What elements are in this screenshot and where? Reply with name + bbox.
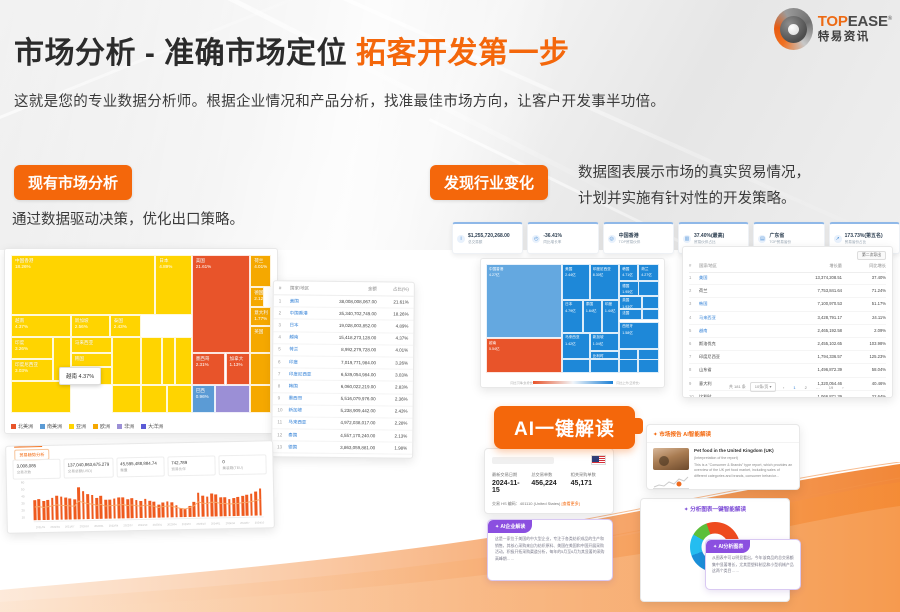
treemap-cell[interactable]: 中国香港18.26%: [11, 255, 155, 315]
treemap-legend-item[interactable]: 亚洲: [69, 423, 86, 430]
row-country[interactable]: 中国香港: [290, 310, 330, 316]
export-button[interactable]: 第二次导出: [857, 251, 886, 260]
row-pct: 2.13%: [381, 433, 407, 439]
growth-treemap-cell[interactable]: 泰国1.64亿: [583, 300, 602, 333]
page-title: 市场分析 - 准确市场定位 拓客开发第一步: [14, 28, 570, 72]
page-size-select[interactable]: 10条/页 ▾: [750, 382, 777, 392]
kpi-text: 173.73%(第五名)贸易省份占比: [845, 232, 883, 245]
market-report-text: Pet food in the United Kingdom (UK) (Int…: [694, 448, 793, 489]
scale-label-right: 同比上升(正增长): [617, 381, 640, 385]
kpi-value: 中国香港: [619, 232, 641, 239]
treemap-cell-label: 印度: [12, 338, 52, 346]
row-pct: 1.98%: [381, 445, 407, 451]
treemap-cell[interactable]: 泰国2.43%: [110, 315, 141, 337]
growth-cell-value: 4.71亿: [620, 272, 637, 279]
kpi-text: 37.40%(最高)贸易伙伴占比: [694, 232, 724, 245]
table-row[interactable]: 6斯洛伐克2,455,102.65103.98%: [689, 338, 886, 351]
row-amount: 5,238,909,442.00: [329, 408, 382, 415]
tab-underline: [14, 446, 42, 448]
treemap-cell-label: 印度尼西亚: [12, 360, 52, 368]
treemap-cell[interactable]: [141, 385, 167, 413]
market-report-paragraph: This is a "Consumer & Brands" type repor…: [694, 463, 793, 479]
row-country[interactable]: 泰国: [288, 432, 328, 438]
stat-value: 45,171: [571, 480, 606, 487]
row-pct: 21.61%: [383, 299, 409, 305]
treemap-cell-label: 巴西: [193, 386, 214, 394]
growth-table-panel[interactable]: 第二次导出 # 国家/地区 增长量 同比增长 1美国13,374,208.513…: [682, 246, 893, 398]
y-tick-label: 50: [21, 487, 24, 491]
row-amount: 4,557,170,240.00: [328, 433, 381, 440]
treemap-cell[interactable]: [112, 337, 141, 384]
treemap-cell-label: 韩国: [72, 354, 112, 362]
treemap-cell-value: 3.03%: [12, 368, 52, 374]
company-stats-card[interactable]: 最新交易日期2024-11-15总交易单数456,224相关采购单数45,171…: [484, 448, 614, 514]
country-amount-table-panel[interactable]: # 国家/地区 金额 占比(%) 1美国38,008,008,067.0021.…: [271, 280, 415, 458]
growth-cell-value: 1.58亿: [620, 329, 658, 336]
trend-kpi-label: 贸易伙伴: [171, 466, 211, 472]
stat-label: 最新交易日期: [492, 472, 527, 478]
y-tick-label: 60: [21, 480, 24, 484]
brand-logo: TOPEASE® 特易资讯: [774, 6, 892, 52]
growth-treemap-cell[interactable]: [590, 359, 619, 373]
clock-icon: ◴: [532, 235, 540, 243]
treemap-legend-item[interactable]: 欧洲: [93, 423, 110, 430]
treemap-cell[interactable]: 日本4.89%: [155, 255, 191, 315]
growth-cell-value: 4.27亿: [639, 272, 658, 279]
row-growth-amount: 3,428,791.17: [753, 315, 856, 321]
page-button[interactable]: 1: [791, 385, 798, 390]
row-growth-pct: 22.64%: [856, 394, 886, 398]
row-pct: 2.36%: [382, 397, 408, 403]
growth-treemap-cell[interactable]: [638, 359, 659, 373]
treemap-cell-value: 4.89%: [156, 264, 190, 270]
stat-label: 总交易单数: [531, 472, 566, 478]
row-country[interactable]: 墨西哥: [289, 396, 329, 402]
growth-cell-value: 1.64亿: [584, 307, 601, 314]
growth-treemap-panel[interactable]: 中国香港4.27亿越南5.54亿美国2.44亿印度尼西亚8.30亿日本4.79亿…: [480, 258, 665, 388]
kpi-label: 同比增长率: [543, 240, 562, 245]
section-desc-left: 通过数据驱动决策，优化出口策略。: [12, 208, 244, 229]
row-pct: 3.03%: [382, 372, 408, 378]
growth-cell-label: 比利时: [591, 352, 618, 359]
table-row[interactable]: 5越南2,465,192.582.09%: [689, 325, 886, 338]
row-index: 3: [278, 322, 289, 328]
ai-chart-note-tag: ✦ AI分析图表: [706, 540, 750, 553]
pet-photo-image: [653, 448, 689, 470]
row-country[interactable]: 马来西亚: [699, 315, 753, 321]
row-growth-amount: 13,374,208.51: [753, 275, 856, 281]
market-report-card[interactable]: ✦ 市场报告 AI智能解读 Pet food in the United Kin…: [646, 424, 800, 490]
growth-table-body[interactable]: 1美国13,374,208.5137.40%2荷兰7,753,841.6471.…: [689, 272, 886, 398]
legend-swatch: [117, 424, 122, 429]
row-amount: 35,340,702,749.00: [330, 311, 383, 318]
growth-treemap-chart[interactable]: 中国香港4.27亿越南5.54亿美国2.44亿印度尼西亚8.30亿日本4.79亿…: [486, 264, 659, 373]
growth-treemap-cell[interactable]: 韩国4.71亿: [619, 264, 638, 281]
legend-swatch: [40, 424, 45, 429]
row-amount: 7,019,771,984.00: [329, 359, 382, 366]
row-index: 11: [277, 420, 288, 426]
row-growth-amount: 2,465,192.58: [753, 328, 856, 334]
treemap-cell-value: 1.77%: [251, 316, 270, 322]
row-country[interactable]: 比利时: [699, 394, 753, 398]
growth-cell-value: 5.54亿: [487, 346, 561, 353]
row-growth-pct: 2.09%: [856, 328, 886, 334]
ai-chart-note-tag-text: AI分析图表: [718, 544, 743, 550]
table-row[interactable]: 1美国13,374,208.5137.40%: [689, 272, 886, 285]
stat-item: 总交易单数456,224: [531, 472, 566, 494]
col-country: 国家/地区: [290, 285, 330, 291]
color-scale-bar: [533, 381, 613, 384]
section-tag-right: 发现行业变化: [430, 165, 548, 200]
row-country[interactable]: 越南: [699, 328, 753, 334]
col-amount: 金额: [330, 286, 383, 293]
treemap-legend[interactable]: 北美洲南美洲亚洲欧洲非洲大洋洲: [11, 423, 163, 430]
chart-icon: ▥: [683, 235, 691, 243]
mini-chart: [653, 473, 689, 489]
hs-code-value: 401110 (United States): [520, 501, 561, 506]
trend-kpi-value: 45,595,488,884.74: [120, 461, 160, 467]
trend-bar-chart[interactable]: [33, 475, 264, 520]
treemap-cell-value: 18.26%: [12, 264, 154, 270]
growth-treemap-cell[interactable]: [642, 296, 659, 309]
growth-cell-label: 法国: [620, 310, 640, 317]
row-pct: 4.89%: [382, 323, 408, 329]
row-amount: 5,516,079,976.00: [329, 396, 382, 403]
x-tick-label: 2023/10: [196, 523, 205, 526]
view-more-link[interactable]: [查看更多]: [561, 501, 579, 506]
row-country[interactable]: 印度: [289, 359, 329, 365]
ai-chart-note-card[interactable]: ✦ AI分析图表 从图表中可以明显看出，今年该商品的总交易额集中显著增长，尤其是…: [705, 539, 801, 590]
row-country[interactable]: 山东省: [699, 367, 753, 373]
treemap-cell-label: 德国: [251, 288, 263, 296]
growth-table-pagination[interactable]: 共 181 条10条/页 ▾‹12…19›: [689, 382, 886, 392]
growth-treemap-cell[interactable]: 新加坡1.04亿: [590, 333, 619, 352]
treemap-cell-label: 日本: [156, 256, 190, 264]
stats-row: 最新交易日期2024-11-15总交易单数456,224相关采购单数45,171: [485, 465, 613, 494]
row-country[interactable]: 荷兰: [699, 288, 753, 294]
kpi-label: 贸易省份占比: [845, 240, 883, 245]
growth-treemap-cell[interactable]: [619, 359, 638, 373]
col-index: #: [279, 285, 290, 291]
row-index: 4: [689, 315, 699, 321]
stat-value: 456,224: [531, 480, 566, 487]
treemap-legend-item[interactable]: 南美洲: [40, 423, 62, 430]
trend-icon: ↗: [834, 235, 842, 243]
row-growth-pct: 37.40%: [856, 275, 886, 281]
row-country[interactable]: 日本: [289, 322, 329, 328]
treemap-cell[interactable]: [141, 337, 162, 384]
kpi-label: 贸易伙伴占比: [694, 240, 724, 245]
row-pct: 4.37%: [382, 336, 408, 342]
trend-kpi: 0集装箱(TEU): [218, 454, 267, 475]
pin-icon: ▤: [758, 235, 766, 243]
row-pct: 3.26%: [382, 360, 408, 366]
kpi-card[interactable]: ◎中国香港TOP贸易伙伴: [603, 222, 674, 254]
treemap-cell[interactable]: [167, 385, 192, 413]
stat-label: 相关采购单数: [571, 472, 606, 478]
treemap-cell-value: 2.43%: [111, 324, 140, 330]
hs-code-label: 交易 HS 编码：: [492, 501, 520, 506]
row-country[interactable]: 斯洛伐克: [699, 341, 753, 347]
treemap-cell-label: 越南: [12, 316, 70, 324]
row-index: 6: [278, 359, 289, 365]
kpi-value: $1,255,720,268.00: [468, 233, 510, 239]
legend-swatch: [141, 424, 146, 429]
ai-company-note-tag: ✦ AI企业解读: [488, 520, 532, 533]
treemap-cell[interactable]: [11, 381, 71, 413]
section-desc-right-line1: 数据图表展示市场的真实贸易情况，: [578, 160, 810, 186]
growth-treemap-cell[interactable]: 英国1.93亿: [619, 296, 641, 309]
treemap-cell[interactable]: 加拿大1.13%: [226, 353, 251, 385]
treemap-cell[interactable]: 英国: [250, 326, 271, 353]
growth-treemap-cell[interactable]: 法国: [619, 309, 641, 320]
treemap-cell-label: 中国香港: [12, 256, 154, 264]
treemap-cell[interactable]: 德国2.12%: [250, 287, 264, 308]
row-amount: 3,863,059,881.00: [328, 445, 381, 452]
x-tick-label: 2022/07: [123, 524, 132, 527]
row-index: 8: [689, 367, 699, 373]
row-country[interactable]: 荷兰: [289, 347, 329, 353]
trend-kpi-label: 重量: [120, 467, 160, 473]
treemap-cell-value: 2.12%: [251, 296, 263, 302]
treemap-cell[interactable]: [175, 337, 192, 384]
treemap-cell[interactable]: 荷兰4.01%: [250, 255, 271, 287]
growth-treemap-cell[interactable]: 中国香港4.27亿: [486, 264, 562, 338]
kpi-card[interactable]: i$1,255,720,268.00总交易额: [452, 222, 523, 254]
trend-kpi-value: 3,008,085: [16, 463, 56, 469]
page-button[interactable]: …: [813, 385, 822, 390]
row-index: 13: [277, 444, 288, 450]
row-growth-pct: 51.17%: [856, 301, 886, 307]
company-name-placeholder: [492, 457, 554, 464]
table-body[interactable]: 1美国38,008,008,067.0021.61%2中国香港35,340,70…: [272, 295, 414, 455]
treemap-legend-item[interactable]: 大洋洲: [141, 423, 163, 430]
table-header-row: # 国家/地区 金额 占比(%): [274, 281, 414, 296]
row-growth-pct: 24.11%: [856, 315, 886, 321]
growth-cell-value: 4.27亿: [487, 272, 561, 279]
row-amount: 4,972,038,017.00: [328, 420, 381, 427]
treemap-cell[interactable]: [112, 385, 141, 413]
table-row[interactable]: 4马来西亚3,428,791.1724.11%: [689, 312, 886, 325]
row-index: 2: [689, 288, 699, 294]
ai-banner: AI一键解读: [494, 406, 635, 449]
treemap-tooltip: 越南 4.37%: [59, 367, 101, 385]
treemap-cell-value: 21.61%: [193, 264, 250, 270]
x-tick-label: 2022/10: [138, 524, 147, 527]
page-subtitle: 这就是您的专业数据分析师。根据企业情况和产品分析，找准最佳市场方向，让客户开发事…: [14, 90, 665, 111]
market-report-heading: Pet food in the United Kingdom (UK): [694, 448, 793, 454]
growth-treemap-cell[interactable]: [638, 281, 659, 295]
x-tick-label: 2024/10: [255, 521, 264, 524]
treemap-cell[interactable]: 越南4.37%: [11, 315, 71, 337]
row-pct: 2.83%: [382, 384, 408, 390]
x-tick-label: 2024/04: [226, 522, 235, 525]
treemap-cell[interactable]: 美国21.61%: [192, 255, 251, 353]
page-button[interactable]: 2: [802, 385, 809, 390]
prev-page-button[interactable]: ‹: [780, 385, 786, 390]
x-tick-label: 2022/04: [109, 524, 118, 527]
row-country[interactable]: 印度尼西亚: [699, 354, 753, 360]
row-country[interactable]: 美国: [290, 298, 330, 304]
kpi-card[interactable]: ◴-36.41%同比增长率: [527, 222, 598, 254]
treemap-cell[interactable]: 韩国: [71, 353, 113, 367]
growth-cell-value: 2.44亿: [563, 272, 589, 279]
table-total: 共 181 条: [729, 384, 746, 390]
x-tick-label: 2021/07: [65, 525, 74, 528]
table-row[interactable]: 7印度尼西亚1,794,336.57125.23%: [689, 351, 886, 364]
trend-kpi: 3,008,085交易次数: [12, 459, 61, 480]
treemap-panel[interactable]: 中国香港18.26%日本4.89%美国21.61%荷兰4.01%越南4.37%新…: [4, 248, 278, 434]
row-growth-pct: 125.23%: [856, 354, 886, 360]
row-index: 6: [689, 341, 699, 347]
logo-wordmark: TOPEASE®: [818, 14, 892, 29]
treemap-cell[interactable]: 印度3.26%: [11, 337, 53, 359]
us-flag-icon: [591, 455, 606, 465]
growth-treemap-cell[interactable]: 日本4.79亿: [562, 300, 583, 333]
row-amount: 15,418,273,128.00: [329, 335, 382, 342]
x-tick-label: 2021/01: [36, 526, 45, 529]
growth-cell-value: 8.30亿: [591, 272, 618, 279]
row-growth-pct: 103.98%: [856, 341, 886, 347]
row-country[interactable]: 美国: [699, 275, 753, 281]
x-tick-label: 2022/01: [94, 525, 103, 528]
row-growth-amount: 7,100,970.53: [753, 301, 856, 307]
treemap-cell[interactable]: 墨西哥2.31%: [192, 353, 226, 385]
row-index: 12: [277, 432, 288, 438]
legend-swatch: [69, 424, 74, 429]
market-report-title: ✦ 市场报告 AI智能解读: [647, 425, 799, 443]
growth-treemap-cell[interactable]: 比利时: [590, 351, 619, 359]
row-index: 10: [278, 408, 289, 414]
treemap-cell[interactable]: [162, 337, 175, 384]
row-index: 3: [689, 301, 699, 307]
growth-treemap-cell[interactable]: 马来西亚1.42亿: [562, 333, 590, 359]
row-amount: 19,028,003,852.00: [329, 323, 382, 330]
row-amount: 8,992,279,728.00: [329, 347, 382, 354]
treemap-cell-value: 2.56%: [72, 324, 109, 330]
treemap-cell-label: 加拿大: [227, 354, 250, 362]
kpi-label: 总交易额: [468, 240, 510, 245]
treemap-cell-label: 新加坡: [72, 316, 109, 324]
y-tick-label: 30: [21, 501, 24, 505]
growth-treemap-cell[interactable]: 印度1.44亿: [602, 300, 619, 333]
mini-chart-svg: [653, 473, 689, 489]
treemap-cell-value: 0.96%: [193, 394, 214, 400]
treemap-cell[interactable]: 新加坡2.56%: [71, 315, 110, 337]
trend-kpi-value: 0: [222, 458, 262, 464]
stat-item: 相关采购单数45,171: [571, 472, 606, 494]
legend-swatch: [11, 424, 16, 429]
treemap-cell[interactable]: 意大利1.77%: [250, 307, 271, 326]
growth-treemap-cell[interactable]: 美国2.44亿: [562, 264, 590, 300]
trend-kpi-value: 742,789: [171, 460, 211, 466]
growth-cell-value: 1.42亿: [563, 340, 589, 347]
treemap-legend-item[interactable]: 非洲: [117, 423, 134, 430]
treemap-cell-value: 1.13%: [227, 362, 250, 368]
treemap-cell-label: 马来西亚: [72, 338, 112, 346]
growth-treemap-cell[interactable]: 西班牙1.58亿: [619, 322, 659, 349]
kpi-text: $1,255,720,268.00总交易额: [468, 233, 510, 245]
treemap-cell-label: 荷兰: [251, 256, 270, 264]
x-tick-label: 2024/07: [240, 522, 249, 525]
treemap-cell-label: 美国: [193, 256, 250, 264]
logo-registered: ®: [888, 16, 892, 22]
ai-company-note-card[interactable]: ✦ AI企业解读 这是一家位于美国的中大型企业，专注于各类纺织成品的生产和销售，…: [487, 519, 613, 581]
row-country[interactable]: 韩国: [289, 383, 329, 389]
kpi-value: 37.40%(最高): [694, 232, 724, 239]
ai-chart-card-title: ✦ 分析图表一键智能解读: [641, 499, 789, 517]
col-pct: 占比(%): [383, 286, 409, 292]
row-country[interactable]: 德国: [288, 444, 328, 450]
growth-treemap-cell[interactable]: 印度尼西亚8.30亿: [590, 264, 619, 300]
row-country[interactable]: 越南: [289, 335, 329, 341]
next-page-button[interactable]: ›: [840, 385, 846, 390]
treemap-cell-label: 墨西哥: [193, 354, 225, 362]
treemap-chart[interactable]: 中国香港18.26%日本4.89%美国21.61%荷兰4.01%越南4.37%新…: [11, 255, 271, 413]
row-growth-amount: 7,753,841.64: [753, 288, 856, 294]
treemap-cell[interactable]: [250, 353, 271, 385]
trend-kpi-label: 交易次数: [17, 469, 57, 475]
row-growth-amount: 1,496,872.39: [753, 367, 856, 373]
row-amount: 38,008,008,067.00: [330, 298, 383, 305]
table-row[interactable]: 3韩国7,100,970.5351.17%: [689, 298, 886, 311]
row-index: 10: [689, 394, 699, 398]
row-index: 1: [689, 275, 699, 281]
logo-mark-icon: [774, 8, 813, 50]
logo-text: TOPEASE® 特易资讯: [818, 14, 892, 44]
row-country[interactable]: 韩国: [699, 301, 753, 307]
row-country[interactable]: 印度尼西亚: [289, 371, 329, 377]
treemap-cell[interactable]: [250, 385, 271, 413]
growth-treemap-cell[interactable]: 越南5.54亿: [486, 338, 562, 373]
treemap-cell-value: 4.37%: [12, 324, 70, 330]
col-index: #: [689, 263, 699, 269]
treemap-cell[interactable]: 印度尼西亚3.03%: [11, 359, 53, 381]
kpi-label: TOP贸易伙伴: [619, 240, 641, 245]
treemap-cell[interactable]: 马来西亚: [71, 337, 113, 353]
hs-code-row: 交易 HS 编码：401110 (United States) [查看更多]: [485, 494, 613, 507]
treemap-cell[interactable]: 巴西0.96%: [192, 385, 215, 413]
ai-company-note-tag-text: AI企业解读: [500, 524, 525, 530]
treemap-cell[interactable]: [215, 385, 250, 413]
page-title-main: 市场分析 - 准确市场定位: [14, 37, 347, 70]
trend-kpi-label: 集装箱(TEU): [222, 465, 262, 471]
stats-card-top: [485, 449, 613, 465]
section-desc-right: 数据图表展示市场的真实贸易情况， 计划并实施有针对性的开发策略。: [578, 160, 810, 212]
row-growth-pct: 71.24%: [856, 288, 886, 294]
kpi-text: 广东省TOP贸易省份: [769, 232, 791, 245]
treemap-cell-label: 意大利: [251, 308, 270, 316]
market-report-sub: (Interpretation of the report): [694, 456, 793, 461]
kpi-text: -36.41%同比增长率: [543, 233, 562, 245]
table-row[interactable]: 2荷兰7,753,841.6471.24%: [689, 285, 886, 298]
trade-trend-panel[interactable]: 贸易趋势分析 3,008,085交易次数137,040,863,675.279交…: [5, 440, 275, 534]
growth-treemap-cell[interactable]: [562, 359, 590, 373]
row-country[interactable]: 马来西亚: [288, 420, 328, 426]
row-amount: 6,060,022,219.00: [329, 384, 382, 391]
growth-treemap-cell[interactable]: 荷兰4.27亿: [638, 264, 659, 281]
col-growth-amount: 增长量: [753, 263, 856, 269]
treemap-legend-item[interactable]: 北美洲: [11, 423, 33, 430]
table-row[interactable]: 8山东省1,496,872.3958.04%: [689, 364, 886, 377]
page-button[interactable]: 19: [826, 385, 835, 390]
trend-kpi: 45,595,488,884.74重量: [116, 456, 165, 477]
row-country[interactable]: 新加坡: [289, 408, 329, 414]
treemap-cell-value: 4.01%: [251, 264, 270, 270]
growth-treemap-cell[interactable]: [642, 309, 659, 320]
col-growth-pct: 同比增长: [856, 263, 886, 269]
col-country: 国家/地区: [699, 263, 753, 269]
